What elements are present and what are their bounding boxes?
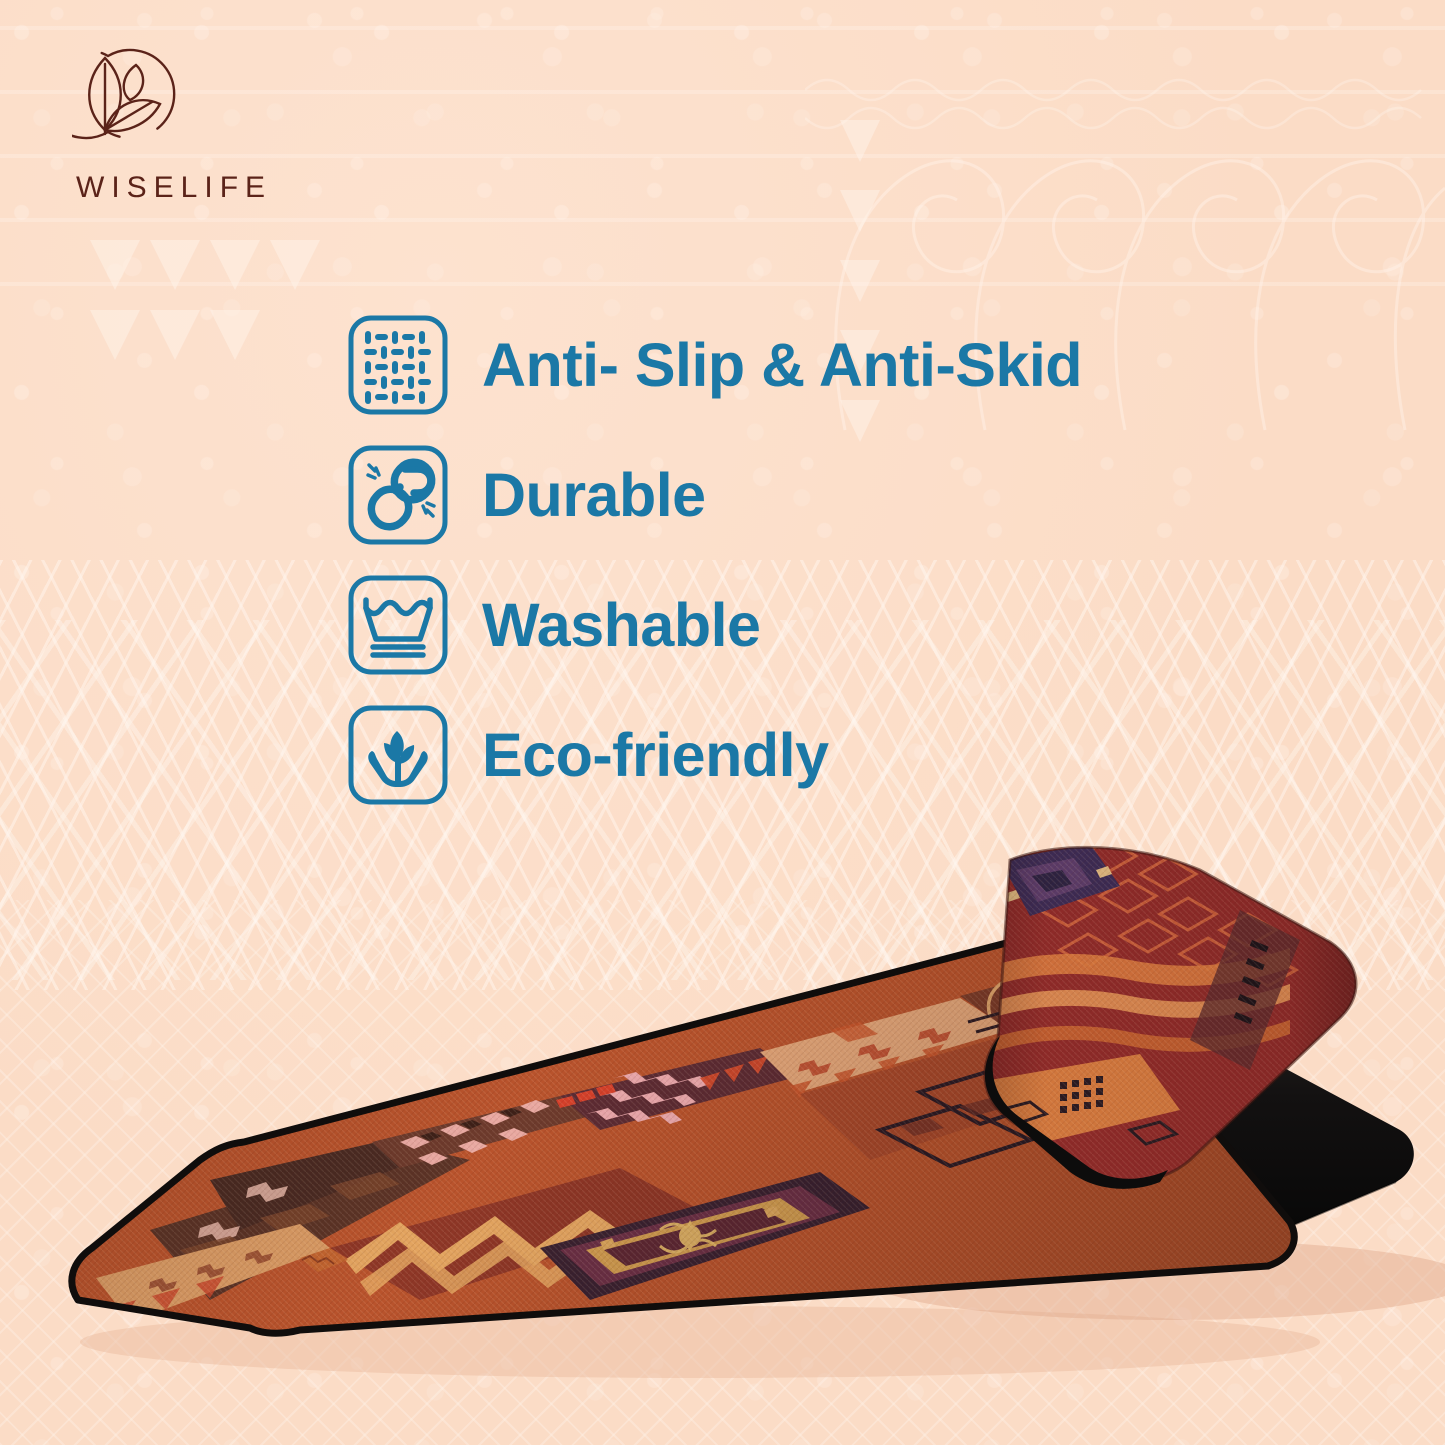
feature-list: Anti- Slip & Anti-Skid Durable (348, 312, 1248, 808)
chain-link-icon (348, 445, 448, 545)
feature-label-washable: Washable (482, 595, 760, 656)
brand-wordmark: WISELIFE (76, 171, 322, 205)
feature-item-anti-slip: Anti- Slip & Anti-Skid (348, 312, 1248, 418)
product-image-yoga-mat: WISELIFE (0, 830, 1445, 1445)
wash-tub-icon (348, 575, 448, 675)
feature-item-eco-friendly: Eco-friendly (348, 702, 1248, 808)
feature-item-washable: Washable (348, 572, 1248, 678)
product-feature-graphic: WISELIFE (0, 0, 1445, 1445)
hands-holding-plant-icon (348, 705, 448, 805)
weave-texture-icon (348, 315, 448, 415)
feature-label-eco-friendly: Eco-friendly (482, 725, 829, 786)
feature-item-durable: Durable (348, 442, 1248, 548)
feature-label-durable: Durable (482, 465, 706, 526)
feature-label-anti-slip: Anti- Slip & Anti-Skid (482, 335, 1082, 396)
brand-logo: WISELIFE (72, 42, 322, 205)
leaf-in-circle-icon (72, 42, 202, 160)
